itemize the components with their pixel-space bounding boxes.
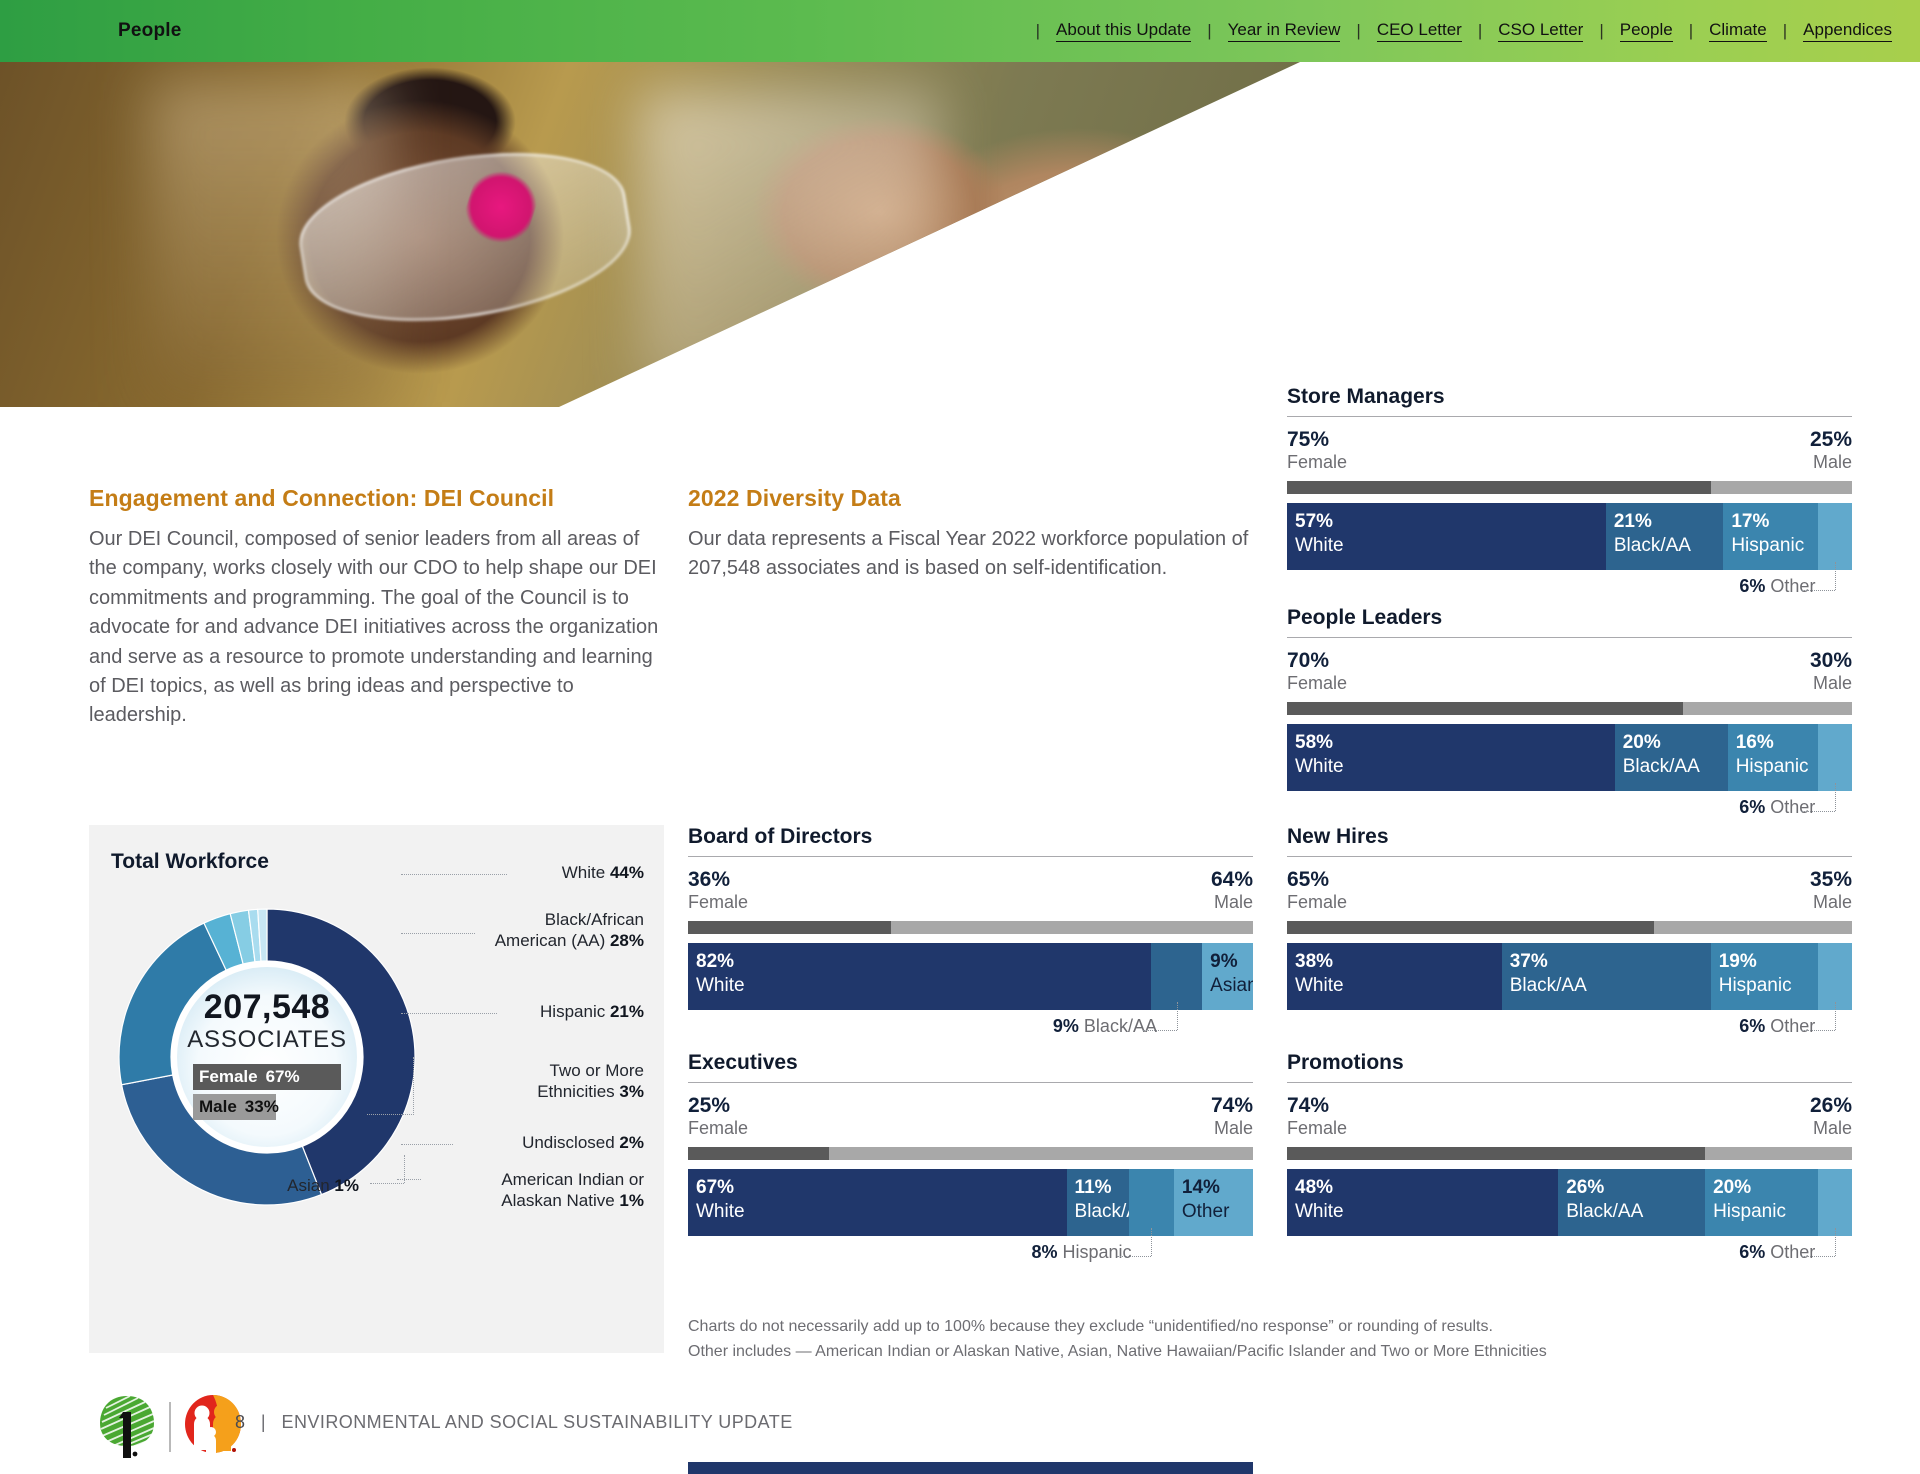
male-label: Male (1810, 892, 1852, 912)
segment-value: 19% (1719, 951, 1757, 973)
female-label: Female (1287, 673, 1347, 693)
ethnicity-stacked-bar: 58%White20%Black/AA16%Hispanic (1287, 724, 1852, 791)
segment-value: 48% (1295, 1177, 1333, 1199)
callout-vertical-line (1835, 1002, 1836, 1030)
chart-rule (1287, 637, 1852, 638)
male-label: Male (193, 1097, 237, 1117)
callout-text: 6% Other (1739, 1242, 1815, 1263)
segment-black-aa: 11%Black/AA (1067, 1169, 1129, 1236)
segment-value: 58% (1295, 732, 1333, 754)
gender-female: 36% Female (688, 868, 748, 912)
callout-text: 9% Black/AA (1053, 1016, 1157, 1037)
male-label: Male (1810, 673, 1852, 693)
male-percent: 26% (1810, 1094, 1852, 1118)
segment-label: Hispanic (1731, 535, 1804, 557)
nav-link-cso-letter[interactable]: CSO Letter (1498, 20, 1583, 42)
segment-label: Black/AA (1623, 756, 1700, 778)
male-label: Male (1211, 1118, 1253, 1138)
dei-council-body: Our DEI Council, composed of senior lead… (89, 525, 664, 731)
chart-executives: Executives 25% Female 74% Male 67%White1… (688, 1051, 1253, 1270)
legend-undisclosed: Undisclosed 2% (419, 1132, 644, 1153)
ethnicity-stacked-bar: 48%White26%Black/AA20%Hispanic (1287, 1169, 1852, 1236)
female-percent: 75% (1287, 428, 1347, 452)
gender-female-fill (1287, 921, 1654, 934)
nav-link-appendices[interactable]: Appendices (1803, 20, 1892, 42)
callout-text: 8% Hispanic (1031, 1242, 1131, 1263)
leader-line-two-more-v (413, 1057, 414, 1115)
nav-separator: | (1783, 21, 1787, 41)
segment-label: Hispanic (1713, 1201, 1786, 1223)
segment-other: 14%Other (1174, 1169, 1253, 1236)
top-navigation-bar: People | About this Update | Year in Rev… (0, 0, 1920, 62)
legend-american-indian-value: 1% (619, 1191, 644, 1210)
disclaimer-line-1: Charts do not necessarily add up to 100%… (688, 1315, 1788, 1340)
page-footer: 8 | ENVIRONMENTAL AND SOCIAL SUSTAINABIL… (0, 1386, 1920, 1474)
male-label: Male (1810, 452, 1852, 472)
legend-hispanic-value: 21% (610, 1002, 644, 1021)
ethnicity-stacked-bar: 82%White9%Asian (688, 943, 1253, 1010)
segment-white: 48%White (1287, 1169, 1558, 1236)
chart-title: Store Managers (1287, 385, 1852, 409)
nav-separator: | (1207, 21, 1211, 41)
segment-hispanic: 17%Hispanic (1723, 503, 1818, 570)
gender-split-bar (688, 1147, 1253, 1160)
gender-male: 26% Male (1810, 1094, 1852, 1138)
dei-council-heading: Engagement and Connection: DEI Council (89, 485, 664, 512)
segment-white: 82%White (688, 943, 1151, 1010)
segment-value: 17% (1731, 511, 1769, 533)
chart-rule (1287, 856, 1852, 857)
gender-female: 75% Female (1287, 428, 1347, 472)
segment-value: 14% (1182, 1177, 1220, 1199)
legend-black-aa-value: 28% (610, 931, 644, 950)
segment-value: 38% (1295, 951, 1333, 973)
segment-asian: 9%Asian (1202, 943, 1253, 1010)
legend-undisclosed-text: Undisclosed (522, 1133, 615, 1152)
segment-value: 20% (1623, 732, 1661, 754)
segment-black-aa: 20%Black/AA (1615, 724, 1728, 791)
callout-vertical-line (1151, 1228, 1152, 1256)
gender-female-fill (1287, 702, 1683, 715)
segment-value: 57% (1295, 511, 1333, 533)
ethnicity-stacked-bar: 57%White21%Black/AA17%Hispanic (1287, 503, 1852, 570)
leader-line-asian-v (404, 1155, 405, 1183)
gender-split-bar (688, 921, 1253, 934)
footer-separator: | (261, 1412, 266, 1432)
male-label: Male (1810, 1118, 1852, 1138)
legend-white-text: White (562, 863, 605, 882)
segment-label: Other (1182, 1201, 1230, 1223)
segment-value: 82% (696, 951, 734, 973)
callout-line (1801, 811, 1835, 812)
nav-separator: | (1689, 21, 1693, 41)
segment-black-aa: 37%Black/AA (1502, 943, 1711, 1010)
total-workforce-donut: 207,548 ASSOCIATES Female 67% Male 33% (117, 907, 417, 1207)
tree-logo-icon (96, 1394, 158, 1460)
female-label: Female (688, 1118, 748, 1138)
gender-male: 25% Male (1810, 428, 1852, 472)
female-label: Female (1287, 452, 1347, 472)
chart-rule (688, 1082, 1253, 1083)
gender-split-bar (1287, 1147, 1852, 1160)
chart-people-leaders: People Leaders 70% Female 30% Male 58%Wh… (1287, 606, 1852, 825)
nav-separator: | (1599, 21, 1603, 41)
footer-page-number: 8 (235, 1412, 245, 1432)
segment-value: 67% (696, 1177, 734, 1199)
gender-female-fill (1287, 1147, 1705, 1160)
donut-center-labels: 207,548 ASSOCIATES Female 67% Male 33% (117, 907, 417, 1207)
dei-council-text-block: Engagement and Connection: DEI Council O… (89, 485, 664, 731)
chart-store-managers: Store Managers 75% Female 25% Male 57%Wh… (1287, 385, 1852, 604)
gender-row-male: Male 33% (193, 1094, 341, 1120)
total-workforce-title: Total Workforce (111, 850, 269, 874)
chart-callout: 6% Other (1287, 1010, 1852, 1044)
nav-links: | About this Update | Year in Review | C… (1020, 20, 1892, 42)
diversity-data-heading: 2022 Diversity Data (688, 485, 1263, 512)
male-percent: 74% (1211, 1094, 1253, 1118)
segment-hispanic: 20%Hispanic (1705, 1169, 1818, 1236)
footer-logo-divider (169, 1402, 171, 1452)
chart-callout: 8% Hispanic (688, 1236, 1253, 1270)
female-label: Female (193, 1067, 258, 1087)
gender-summary: 74% Female 26% Male (1287, 1094, 1852, 1138)
segment-label: Black/AA (1510, 975, 1587, 997)
chart-title: Executives (688, 1051, 1253, 1075)
segment-other (1818, 503, 1852, 570)
gender-female-fill (688, 921, 891, 934)
page-section-title: People (118, 20, 182, 42)
female-label: Female (1287, 892, 1347, 912)
nav-link-year-in-review[interactable]: Year in Review (1228, 20, 1341, 42)
callout-line (1801, 590, 1835, 591)
legend-asian-value: 1% (334, 1176, 359, 1195)
legend-white: White 44% (419, 862, 644, 883)
female-percent: 65% (1287, 868, 1347, 892)
chart-title: People Leaders (1287, 606, 1852, 630)
hero-image (0, 62, 1300, 407)
gender-summary: 25% Female 74% Male (688, 1094, 1253, 1138)
segment-value: 26% (1566, 1177, 1604, 1199)
segment-white: 38%White (1287, 943, 1502, 1010)
gender-split-bar (1287, 481, 1852, 494)
charts-disclaimer: Charts do not necessarily add up to 100%… (688, 1315, 1788, 1365)
nav-separator: | (1478, 21, 1482, 41)
segment-label: Hispanic (1719, 975, 1792, 997)
chart-promotions: Promotions 74% Female 26% Male 48%White2… (1287, 1051, 1852, 1270)
associates-label: ASSOCIATES (187, 1026, 347, 1054)
segment-label: White (696, 1201, 745, 1223)
footer-logos (96, 1394, 244, 1460)
segment-label: Black/AA (1614, 535, 1691, 557)
legend-black-aa: Black/AfricanAmerican (AA) 28% (419, 909, 644, 952)
gender-female: 70% Female (1287, 649, 1347, 693)
callout-vertical-line (1177, 1002, 1178, 1030)
gender-female: 74% Female (1287, 1094, 1347, 1138)
segment-label: Hispanic (1736, 756, 1809, 778)
segment-label: White (1295, 756, 1344, 778)
segment-label: White (1295, 535, 1344, 557)
segment-other (1818, 943, 1852, 1010)
footer-title: ENVIRONMENTAL AND SOCIAL SUSTAINABILITY … (282, 1412, 793, 1432)
callout-text: 6% Other (1739, 576, 1815, 597)
gender-female: 65% Female (1287, 868, 1347, 912)
gender-split-bar (1287, 702, 1852, 715)
callout-line (1117, 1256, 1151, 1257)
nav-separator: | (1356, 21, 1360, 41)
callout-text: 6% Other (1739, 797, 1815, 818)
gender-summary: 70% Female 30% Male (1287, 649, 1852, 693)
segment-label: Black/AA (1566, 1201, 1643, 1223)
segment-white: 57%White (1287, 503, 1606, 570)
segment-other (1129, 1169, 1174, 1236)
gender-summary: 36% Female 64% Male (688, 868, 1253, 912)
legend-white-value: 44% (610, 863, 644, 882)
male-percent: 25% (1810, 428, 1852, 452)
legend-two-or-more-value: 3% (619, 1082, 644, 1101)
chart-title: Promotions (1287, 1051, 1852, 1075)
callout-line (1143, 1030, 1177, 1031)
gender-male: 64% Male (1211, 868, 1253, 912)
segment-label: Asian (1210, 975, 1253, 997)
nav-link-ceo-letter[interactable]: CEO Letter (1377, 20, 1462, 42)
male-percent: 30% (1810, 649, 1852, 673)
footer-caption: 8 | ENVIRONMENTAL AND SOCIAL SUSTAINABIL… (235, 1412, 793, 1433)
associates-count: 207,548 (204, 990, 330, 1024)
chart-rule (688, 856, 1253, 857)
segment-other (1151, 943, 1202, 1010)
chart-callout: 6% Other (1287, 791, 1852, 825)
female-label: Female (1287, 1118, 1347, 1138)
segment-hispanic: 19%Hispanic (1711, 943, 1818, 1010)
chart-board-of-directors: Board of Directors 36% Female 64% Male 8… (688, 825, 1253, 1044)
segment-white: 67%White (688, 1169, 1067, 1236)
segment-value: 9% (1210, 951, 1237, 973)
callout-vertical-line (1835, 783, 1836, 811)
chart-rule (1287, 416, 1852, 417)
chart-new-hires: New Hires 65% Female 35% Male 38%White37… (1287, 825, 1852, 1044)
chart-callout: 9% Black/AA (688, 1010, 1253, 1044)
female-label: Female (688, 892, 748, 912)
diversity-data-body: Our data represents a Fiscal Year 2022 w… (688, 525, 1263, 584)
callout-line (1801, 1030, 1835, 1031)
gender-male: 74% Male (1211, 1094, 1253, 1138)
chart-callout: 6% Other (1287, 1236, 1852, 1270)
gender-row-female: Female 67% (193, 1064, 341, 1090)
segment-value: 11% (1075, 1177, 1112, 1199)
gender-female-fill (1287, 481, 1711, 494)
segment-value: 20% (1713, 1177, 1751, 1199)
legend-undisclosed-value: 2% (619, 1133, 644, 1152)
hero-bokeh-right (640, 92, 940, 392)
segment-black-aa: 26%Black/AA (1558, 1169, 1705, 1236)
total-workforce-panel: Total Workforce 207,548 ASSOCIATES (89, 825, 664, 1353)
segment-label: White (696, 975, 745, 997)
gender-split-bar (1287, 921, 1852, 934)
callout-line (1801, 1256, 1835, 1257)
gender-summary: 65% Female 35% Male (1287, 868, 1852, 912)
diversity-data-text-block: 2022 Diversity Data Our data represents … (688, 485, 1263, 584)
chart-title: New Hires (1287, 825, 1852, 849)
page-root: People | About this Update | Year in Rev… (0, 0, 1920, 1474)
segment-label: White (1295, 975, 1344, 997)
male-value: 33% (245, 1097, 279, 1117)
nav-link-about-this-update[interactable]: About this Update (1056, 20, 1191, 42)
nav-separator: | (1036, 21, 1040, 41)
chart-rule (1287, 1082, 1852, 1083)
female-value: 67% (266, 1067, 300, 1087)
male-percent: 35% (1810, 868, 1852, 892)
leader-line-american-indian (397, 1179, 421, 1180)
legend-asian-text: Asian (287, 1176, 330, 1195)
gender-female-fill (688, 1147, 829, 1160)
nav-link-climate[interactable]: Climate (1709, 20, 1767, 42)
callout-vertical-line (1835, 562, 1836, 590)
segment-other (1818, 724, 1852, 791)
gender-split-mini-bars: Female 67% Male 33% (193, 1064, 341, 1124)
gender-male: 30% Male (1810, 649, 1852, 693)
segment-value: 16% (1736, 732, 1774, 754)
male-percent: 64% (1211, 868, 1253, 892)
gender-female: 25% Female (688, 1094, 748, 1138)
ethnicity-stacked-bar: 67%White11%Black/AA14%Other (688, 1169, 1253, 1236)
ethnicity-stacked-bar: 38%White37%Black/AA19%Hispanic (1287, 943, 1852, 1010)
legend-hispanic: Hispanic 21% (419, 1001, 644, 1022)
bottom-navy-accent-bar (688, 1462, 1253, 1474)
gender-male: 35% Male (1810, 868, 1852, 912)
male-label: Male (1211, 892, 1253, 912)
female-percent: 25% (688, 1094, 748, 1118)
female-percent: 36% (688, 868, 748, 892)
callout-vertical-line (1835, 1228, 1836, 1256)
leader-line-asian (370, 1183, 404, 1184)
female-percent: 70% (1287, 649, 1347, 673)
chart-title: Board of Directors (688, 825, 1253, 849)
legend-two-or-more: Two or MoreEthnicities 3% (419, 1060, 644, 1103)
segment-label: White (1295, 1201, 1344, 1223)
legend-american-indian: American Indian orAlaskan Native 1% (419, 1169, 644, 1212)
legend-asian: Asian 1% (169, 1175, 359, 1196)
callout-text: 6% Other (1739, 1016, 1815, 1037)
segment-value: 21% (1614, 511, 1652, 533)
female-percent: 74% (1287, 1094, 1347, 1118)
nav-link-people[interactable]: People (1620, 20, 1673, 42)
chart-callout: 6% Other (1287, 570, 1852, 604)
segment-black-aa: 21%Black/AA (1606, 503, 1723, 570)
leader-line-two-more (367, 1114, 414, 1115)
legend-hispanic-text: Hispanic (540, 1002, 605, 1021)
segment-value: 37% (1510, 951, 1548, 973)
segment-hispanic: 16%Hispanic (1728, 724, 1818, 791)
disclaimer-line-2: Other includes — American Indian or Alas… (688, 1340, 1788, 1365)
segment-white: 58%White (1287, 724, 1615, 791)
segment-other (1818, 1169, 1852, 1236)
gender-summary: 75% Female 25% Male (1287, 428, 1852, 472)
